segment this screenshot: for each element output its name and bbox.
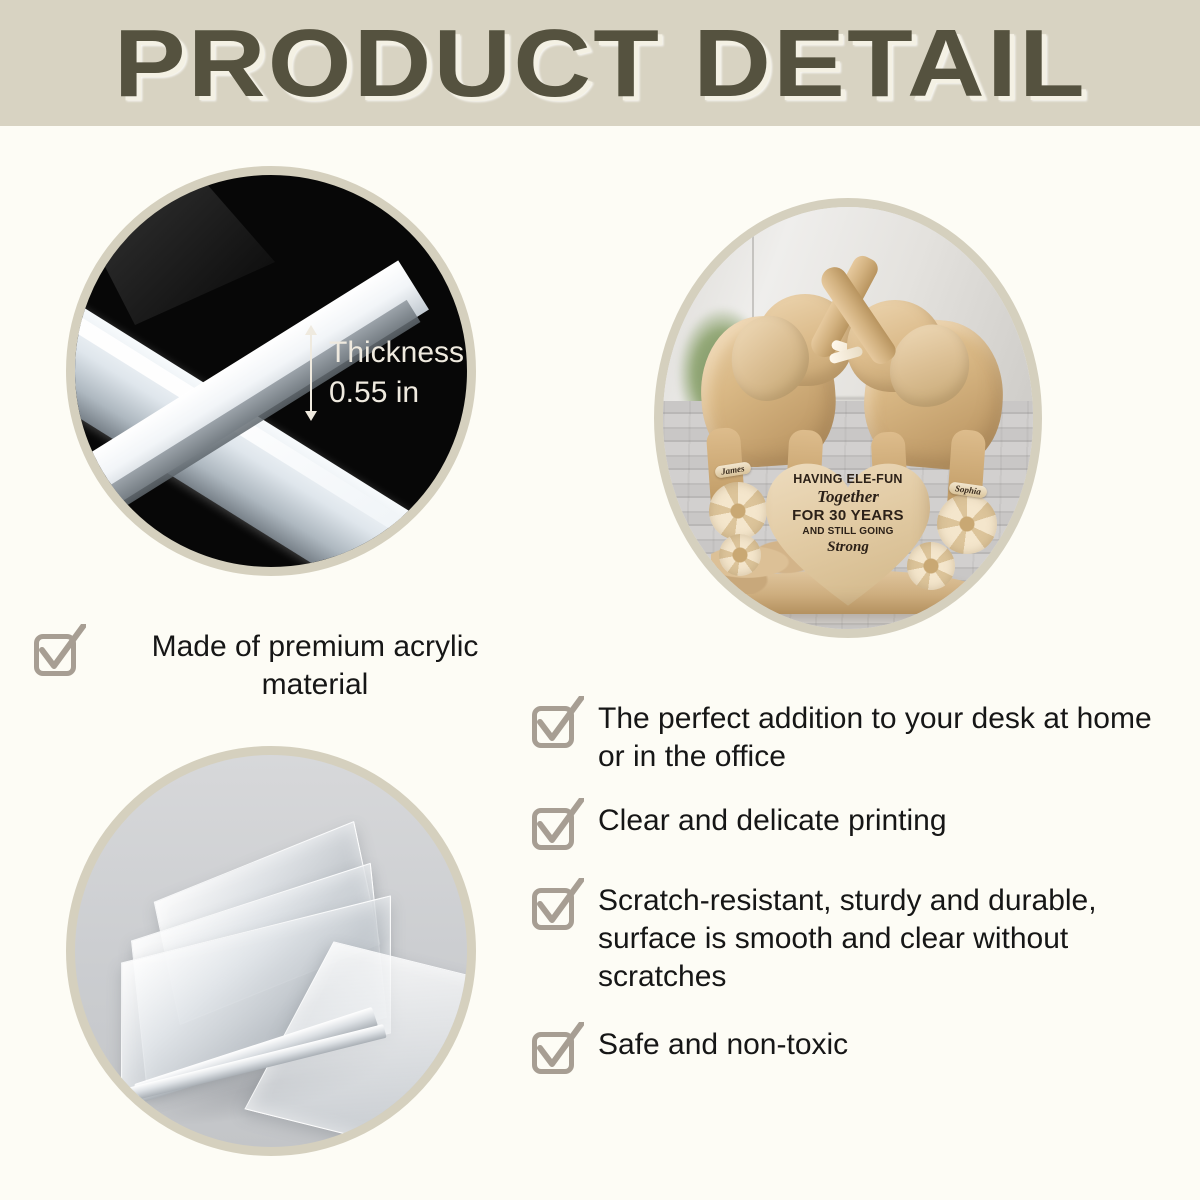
- double-arrow-icon: [303, 325, 319, 421]
- heart-line-4: AND STILL GOING: [768, 525, 928, 538]
- header-band: PRODUCT DETAIL: [0, 0, 1200, 126]
- heart-line-5: Strong: [768, 538, 928, 556]
- feature-label: Safe and non-toxic: [598, 1026, 848, 1064]
- figurine-photo-circle: HAVING ELE-FUN Together FOR 30 YEARS AND…: [654, 198, 1042, 638]
- flower-left-lower: [719, 534, 761, 576]
- feature-label: Scratch-resistant, sturdy and durable, s…: [598, 882, 1190, 996]
- feature-label: The perfect addition to your desk at hom…: [598, 700, 1180, 776]
- thickness-photo-circle: Thickness 0.55 in: [66, 166, 476, 576]
- heart-line-1: HAVING ELE-FUN: [768, 472, 928, 487]
- acrylic-facet: [75, 175, 275, 325]
- feature-item-scratch-resistant: Scratch-resistant, sturdy and durable, s…: [530, 882, 1190, 996]
- flower-right-upper: [937, 494, 997, 554]
- checkbox-check-icon: [530, 700, 580, 750]
- checkbox-check-icon: [530, 882, 580, 932]
- heart-inscription: HAVING ELE-FUN Together FOR 30 YEARS AND…: [768, 472, 928, 556]
- feature-item-desk: The perfect addition to your desk at hom…: [530, 700, 1180, 776]
- checkbox-check-icon: [530, 802, 580, 852]
- feature-item-material: Made of premium acrylic material: [32, 628, 542, 704]
- checkbox-check-icon: [530, 1026, 580, 1076]
- elephant-figurine: HAVING ELE-FUN Together FOR 30 YEARS AND…: [683, 258, 1013, 588]
- page-title: PRODUCT DETAIL: [113, 14, 1086, 114]
- feature-label: Clear and delicate printing: [598, 802, 947, 840]
- thickness-label: Thickness 0.55 in: [329, 333, 464, 413]
- flower-left-upper: [709, 482, 767, 540]
- feature-label: Made of premium acrylic material: [100, 628, 530, 704]
- checkbox-check-icon: [32, 628, 82, 678]
- heart-line-3: FOR 30 YEARS: [768, 507, 928, 525]
- thickness-callout: Thickness 0.55 in: [303, 325, 464, 421]
- thickness-label-line2: 0.55 in: [329, 373, 464, 413]
- thickness-label-line1: Thickness: [329, 333, 464, 373]
- heart-line-2: Together: [768, 487, 928, 507]
- feature-item-non-toxic: Safe and non-toxic: [530, 1026, 1180, 1076]
- feature-item-printing: Clear and delicate printing: [530, 802, 1180, 852]
- acrylic-sheets-photo-circle: [66, 746, 476, 1156]
